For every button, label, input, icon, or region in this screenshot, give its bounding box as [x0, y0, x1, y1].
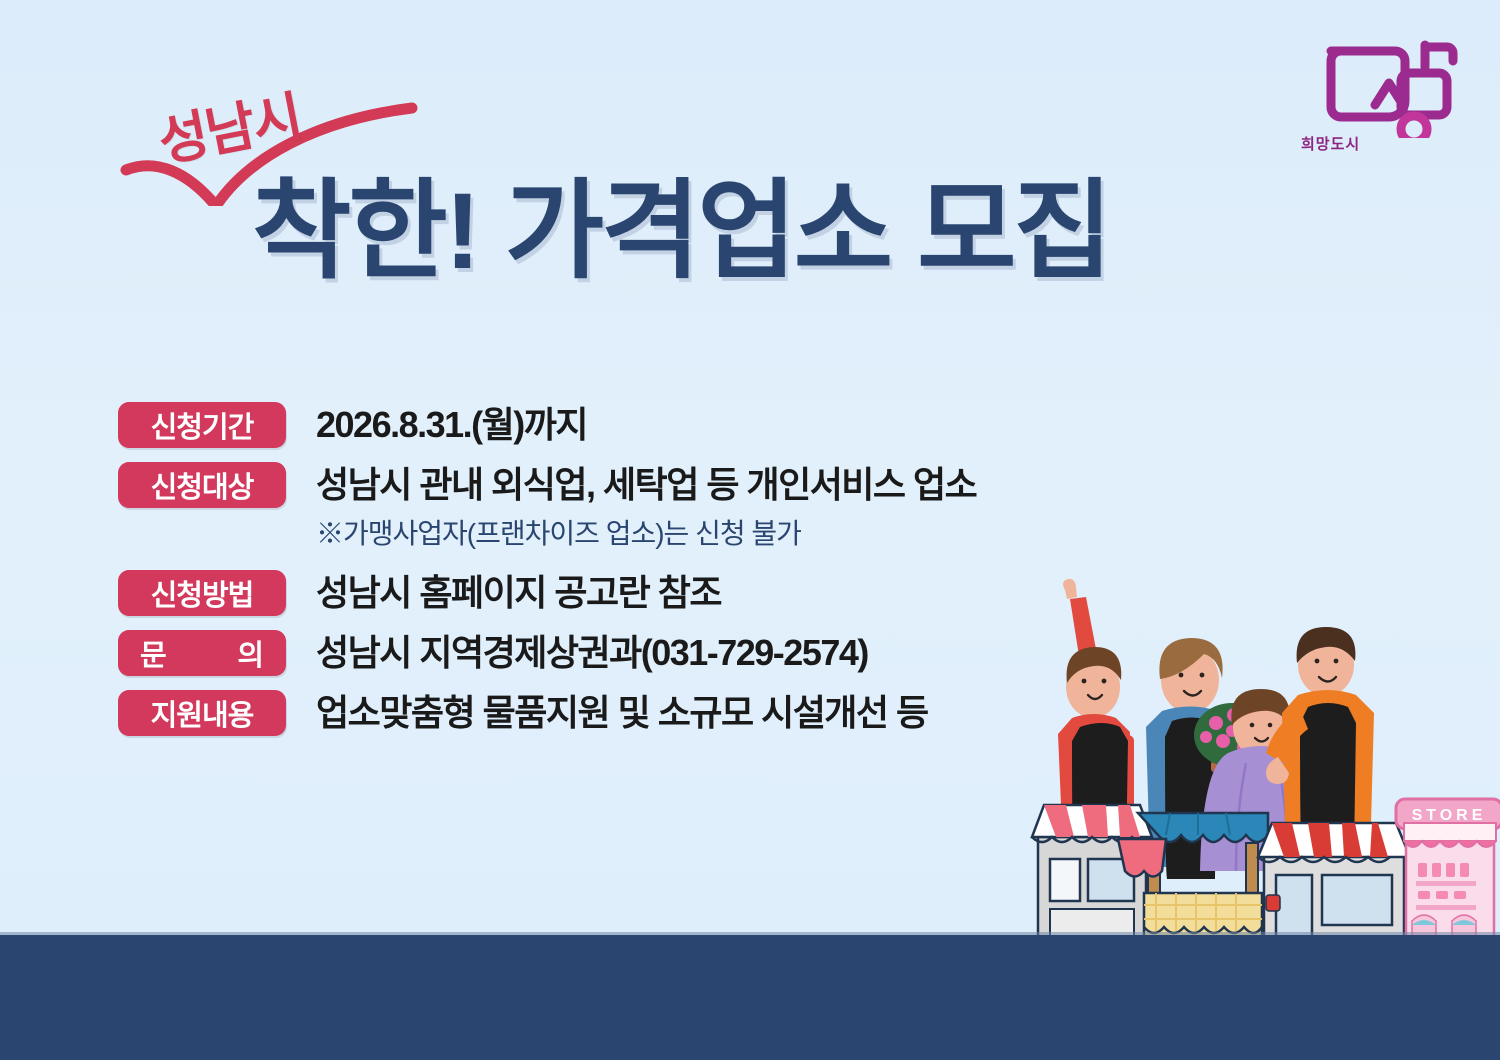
badge-inquiry-char1: 문: [140, 632, 167, 674]
value-eligibility: 성남시 관내 외식업, 세탁업 등 개인서비스 업소: [316, 462, 976, 508]
info-list: 신청기간 2026.8.31.(월)까지 신청대상 성남시 관내 외식업, 세탁…: [118, 402, 1118, 736]
value-application-period: 2026.8.31.(월)까지: [316, 402, 587, 448]
badge-how-to-apply: 신청방법: [118, 570, 286, 616]
info-row-application-period: 신청기간 2026.8.31.(월)까지: [118, 402, 1118, 448]
value-inquiry: 성남시 지역경제상권과(031-729-2574): [316, 630, 868, 676]
value-how-to-apply: 성남시 홈페이지 공고란 참조: [316, 570, 721, 616]
value-support-details: 업소맞춤형 물품지원 및 소규모 시설개선 등: [316, 690, 928, 736]
shop-owners-illustration: STORE STORE: [1020, 575, 1500, 940]
badge-application-period: 신청기간: [118, 402, 286, 448]
badge-inquiry: 문 의: [118, 630, 286, 676]
badge-eligibility: 신청대상: [118, 462, 286, 508]
poster-canvas: 희망도시 성남시 착한! 가격업소 모집 신청기간 2026.8.31.(월)까…: [0, 0, 1500, 1060]
note-franchise-exclusion: ※가맹사업자(프랜차이즈 업소)는 신청 불가: [316, 512, 1118, 552]
logo-mark-icon: [1313, 33, 1463, 138]
store-sign-large-text: STORE: [1412, 807, 1487, 824]
info-row-inquiry: 문 의 성남시 지역경제상권과(031-729-2574): [118, 630, 1118, 676]
page-title: 착한! 가격업소 모집: [252, 176, 1110, 286]
info-row-support-details: 지원내용 업소맞춤형 물품지원 및 소규모 시설개선 등: [118, 690, 1118, 736]
logo-tagline: 희망도시: [1301, 133, 1360, 154]
badge-support-details: 지원내용: [118, 690, 286, 736]
bottom-navy-band: [0, 935, 1500, 1060]
info-row-how-to-apply: 신청방법 성남시 홈페이지 공고란 참조: [118, 570, 1118, 616]
storefront-red-awning: STORE: [1258, 823, 1410, 937]
badge-inquiry-char2: 의: [237, 632, 264, 674]
storefront-pink-bakery: STORE: [1396, 799, 1500, 937]
seongnam-city-logo: 희망도시: [1293, 33, 1483, 168]
info-row-eligibility: 신청대상 성남시 관내 외식업, 세탁업 등 개인서비스 업소: [118, 462, 1118, 508]
